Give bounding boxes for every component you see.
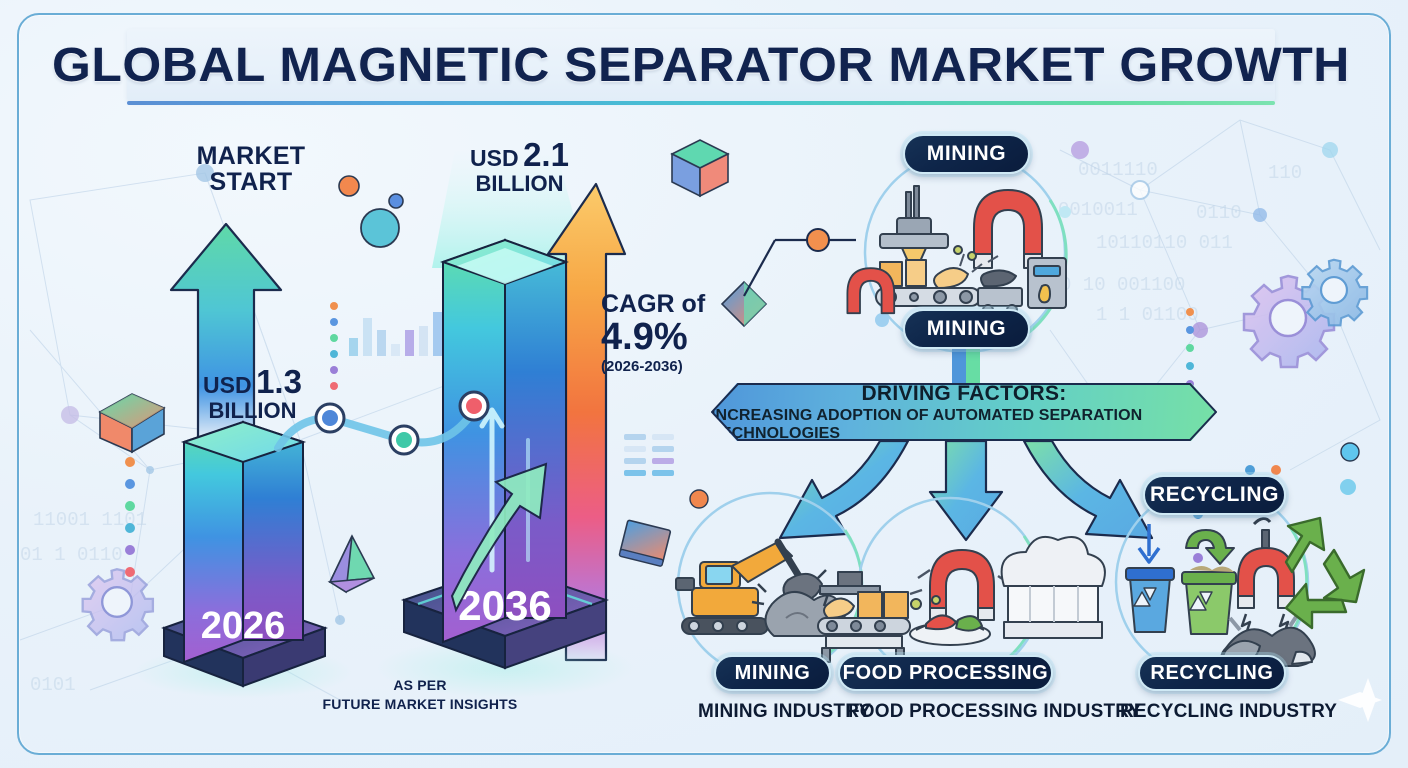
source-line2: FUTURE MARKET INSIGHTS — [323, 696, 518, 712]
end-value-label: USD 2.1 BILLION — [432, 138, 607, 195]
pill-category-food-label: FOOD PROCESSING — [843, 662, 1049, 685]
pill-category-mining[interactable]: MINING — [714, 655, 831, 691]
pill-mining-under-circle[interactable]: MINING — [903, 309, 1030, 349]
cagr-label: CAGR of 4.9% (2026-2036) — [601, 292, 731, 374]
end-amount: 2.1 — [523, 136, 569, 173]
pill-mining-under-circle-label: MINING — [927, 317, 1006, 341]
top-connector-line — [744, 229, 856, 296]
source-line1: AS PER — [393, 677, 446, 693]
distribution-arrows — [780, 441, 1152, 540]
pill-category-recycling-label: RECYCLING — [1150, 662, 1273, 685]
infographic-canvas: 11001 1101 01 1 0110 0101 0011110 110 00… — [0, 0, 1408, 768]
pill-mining-top-label: MINING — [927, 142, 1006, 166]
start-unit: BILLION — [165, 400, 340, 422]
pill-mining-top[interactable]: MINING — [903, 134, 1030, 174]
pill-category-mining-label: MINING — [735, 662, 811, 685]
pill-recycling-top[interactable]: RECYCLING — [1143, 475, 1286, 515]
caption-food: FOOD PROCESSING INDUSTRY — [848, 701, 1084, 723]
recycling-icons — [1126, 518, 1364, 666]
food-icons — [818, 537, 1105, 662]
source-attribution: AS PER FUTURE MARKET INSIGHTS — [300, 676, 540, 714]
cagr-prefix: CAGR of — [601, 290, 705, 318]
banner-heading: DRIVING FACTORS: — [861, 382, 1066, 406]
pill-category-food[interactable]: FOOD PROCESSING — [838, 655, 1053, 691]
pill-recycling-top-label: RECYCLING — [1150, 483, 1279, 507]
caption-recycling: RECYCLING INDUSTRY — [1120, 701, 1306, 723]
mining-top-icons — [847, 186, 1066, 315]
end-unit: BILLION — [432, 173, 607, 195]
caption-mining: MINING INDUSTRY — [698, 701, 848, 723]
start-amount: 1.3 — [256, 363, 302, 400]
end-currency: USD — [470, 145, 519, 171]
market-start-line2: START — [210, 168, 293, 196]
start-value-label: USD 1.3 BILLION — [165, 365, 340, 422]
cagr-period: (2026-2036) — [601, 359, 731, 374]
banner-subheading: INCREASING ADOPTION OF AUTOMATED SEPARAT… — [711, 407, 1217, 443]
driving-factors-banner: DRIVING FACTORS: INCREASING ADOPTION OF … — [711, 383, 1217, 441]
start-currency: USD — [203, 372, 252, 398]
market-start-label: MARKET START — [171, 143, 331, 195]
market-start-line1: MARKET — [197, 142, 306, 170]
cagr-value: 4.9% — [601, 318, 731, 356]
pill-category-recycling[interactable]: RECYCLING — [1138, 655, 1286, 691]
